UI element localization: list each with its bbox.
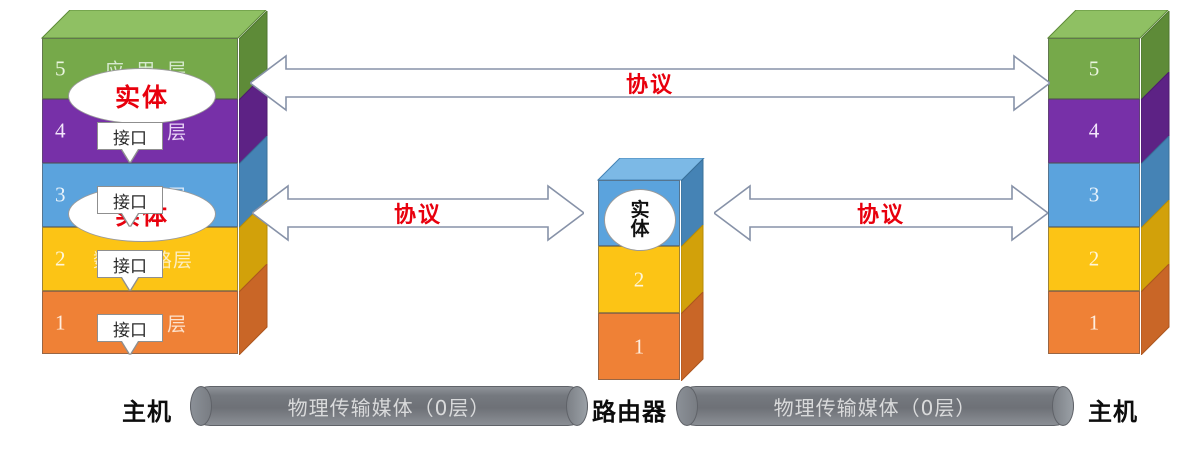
medium-right-cap-end [1052,386,1074,426]
right-host-layer-1-number: 1 [1049,312,1139,333]
protocol-arrow-top[interactable]: 协议 [250,50,1050,116]
right-host-layer-4[interactable]: 4 [1048,99,1140,163]
diagram-canvas: 5 应 用 层 4 传 输 层 3 网 络 层 2 数据链路层 [0,0,1204,453]
router-entity-line2: 体 [630,220,649,239]
right-host-label: 主机 [1088,392,1138,427]
protocol-arrow-mid-right[interactable]: 协议 [714,180,1048,246]
left-host-layer-4-number: 4 [55,121,66,142]
protocol-arrow-mid-left[interactable]: 协议 [252,180,584,246]
medium-left-cap-start [190,386,212,426]
router-entity: 实 体 [604,189,676,251]
router-layer-1-number: 1 [599,336,679,357]
router-layer-2[interactable]: 2 [598,246,680,313]
interface-callout-3-2: 接口 [97,250,163,278]
interface-callout-2-1-label: 接口 [113,316,147,341]
router-layer-2-number: 2 [599,269,679,290]
transmission-medium-right-label: 物理传输媒体（0层） [774,392,977,421]
router-layer-1[interactable]: 1 [598,313,680,380]
interface-callout-3-2-tail [122,277,138,290]
interface-callout-2-1: 接口 [97,314,163,342]
right-host-layer-5[interactable]: 5 [1048,38,1140,99]
interface-callout-5-4-tail [122,149,138,162]
medium-right-cap-start [676,386,698,426]
transmission-medium-right: 物理传输媒体（0层） [676,386,1074,426]
interface-callout-4-3-tail [122,213,138,226]
left-host-entity-layer5: 实体 [68,68,216,124]
right-host-layer-3[interactable]: 3 [1048,163,1140,227]
interface-callout-4-3-label: 接口 [113,188,147,213]
left-host-layer-5-number: 5 [55,58,66,79]
router-layer-1-side [681,292,705,381]
left-host-top-cap [41,10,267,40]
medium-left-cap-end [566,386,588,426]
interface-callout-3-2-label: 接口 [113,252,147,277]
interface-callout-2-1-tail [122,341,138,354]
left-host-layer-3-number: 3 [55,185,66,206]
router-label: 路由器 [592,392,667,427]
interface-callout-5-4-label: 接口 [113,124,147,149]
right-host-layer-3-number: 3 [1049,185,1139,206]
right-host-layer-4-number: 4 [1049,121,1139,142]
right-host-layer-1-side [1141,264,1171,355]
left-host-layer-1-side [239,264,269,355]
right-host-layer-2-number: 2 [1049,249,1139,270]
left-host-layer-1-number: 1 [55,312,66,333]
left-host-label: 主机 [122,392,172,427]
transmission-medium-left: 物理传输媒体（0层） [190,386,588,426]
interface-callout-4-3: 接口 [97,186,163,214]
left-host-entity-layer5-label: 实体 [115,78,169,114]
right-host-stack: 5 4 3 2 1 [1048,38,1140,380]
transmission-medium-left-label: 物理传输媒体（0层） [288,392,491,421]
right-host-layer-5-number: 5 [1049,58,1139,79]
left-host-layer-2-number: 2 [55,249,66,270]
right-host-layer-1[interactable]: 1 [1048,291,1140,354]
right-host-layer-2[interactable]: 2 [1048,227,1140,291]
interface-callout-5-4: 接口 [97,122,163,150]
